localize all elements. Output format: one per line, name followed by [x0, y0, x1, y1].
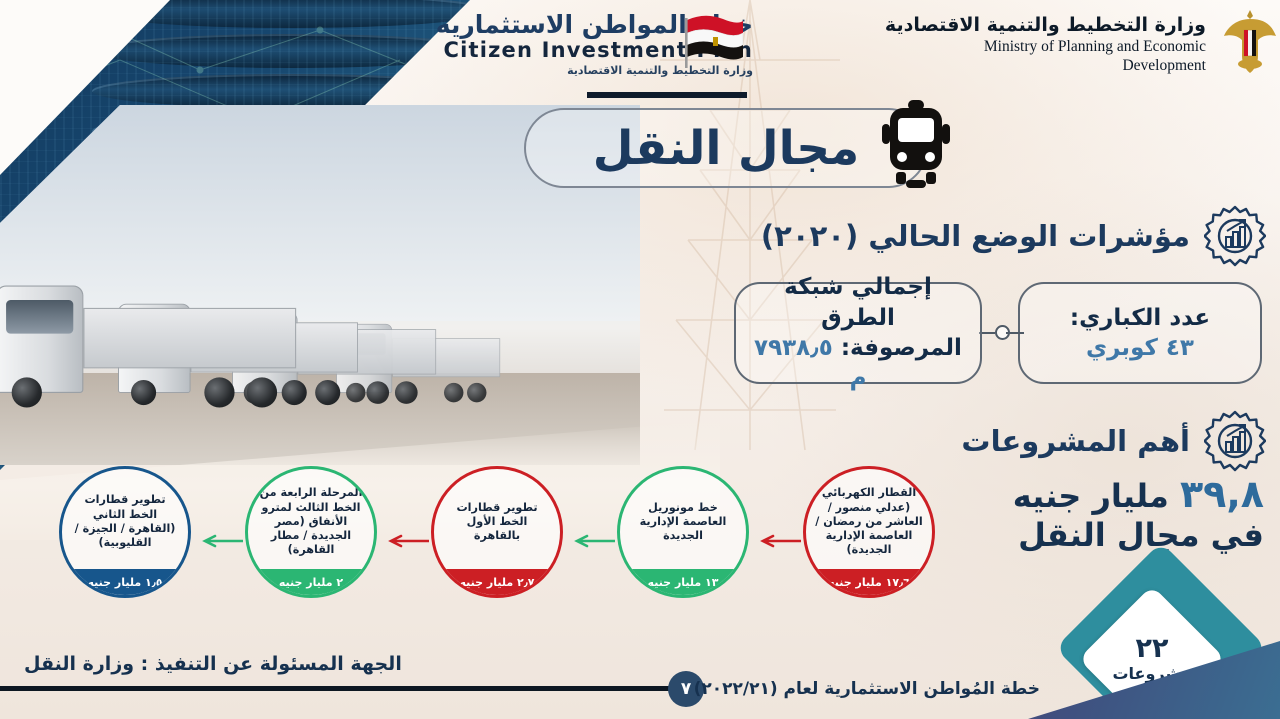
- ministry-logo: وزارة التخطيط والتنمية الاقتصادية Minist…: [950, 14, 1268, 94]
- project-circle-metro-line-three-phase-four[interactable]: المرحلة الرابعة من الخط الثالث لمترو الأ…: [245, 466, 377, 598]
- egypt-flag-icon: [683, 12, 745, 70]
- badge-count: ٢٢: [1136, 635, 1169, 662]
- indicator-card-bridges: عدد الكباري: ٤٣ كوبري: [1018, 282, 1262, 384]
- indicator-roads-label: إجمالي شبكة الطرق: [752, 272, 964, 333]
- eagle-of-saladin-icon: [1222, 6, 1278, 76]
- project-cost: ١٫٥ مليار جنيه: [62, 569, 188, 595]
- budget-scope: في مجال النقل: [964, 517, 1264, 555]
- projects-flow: القطار الكهربائي (عدلي منصور / العاشر من…: [30, 466, 935, 612]
- project-title-wrap: خط مونوريل العاصمة الإدارية الجديدة: [620, 469, 746, 569]
- indicator-bridges-label: عدد الكباري:: [1070, 303, 1210, 333]
- project-title-wrap: تطوير قطارات الخط الثاني (القاهرة / الجي…: [62, 469, 188, 569]
- budget-amount-row: ٣٩,٨ مليار جنيه: [964, 472, 1264, 517]
- project-title: تطوير قطارات الخط الثاني (القاهرة / الجي…: [70, 493, 180, 550]
- indicator-roads-prefix: المرصوفة:: [841, 335, 962, 361]
- project-cost: ٢ مليار جنيه: [248, 569, 374, 595]
- budget-unit: مليار جنيه: [1013, 477, 1169, 515]
- project-cost: ١٧٫٦ مليار جنيه: [806, 569, 932, 595]
- flow-arrow-3: [383, 534, 429, 548]
- section-heading-projects-label: أهم المشروعات: [961, 424, 1190, 458]
- project-circle-electric-train[interactable]: القطار الكهربائي (عدلي منصور / العاشر من…: [803, 466, 935, 598]
- infographic-page: خطة المواطن الاستثمارية Citizen Investme…: [0, 0, 1280, 719]
- budget-amount: ٣٩,٨: [1180, 472, 1264, 516]
- project-circle-metro-line-two[interactable]: تطوير قطارات الخط الثاني (القاهرة / الجي…: [59, 466, 191, 598]
- project-title: المرحلة الرابعة من الخط الثالث لمترو الأ…: [256, 486, 366, 558]
- ministry-logo-english-line1: Ministry of Planning and Economic: [950, 38, 1268, 57]
- section-heading-current-status-label: مؤشرات الوضع الحالي (٢٠٢٠): [761, 219, 1190, 253]
- indicator-roads-value-row: المرصوفة: ٧٩٣٨٫٥ م: [752, 333, 964, 394]
- project-title: القطار الكهربائي (عدلي منصور / العاشر من…: [814, 486, 924, 558]
- cip-logo-rule: [587, 92, 747, 98]
- train-icon: [870, 100, 962, 192]
- project-cost: ١٣ مليار جنيه: [620, 569, 746, 595]
- project-title-wrap: تطوير قطارات الخط الأول بالقاهرة: [434, 469, 560, 569]
- footer-rule: [0, 686, 700, 691]
- indicator-bridges-value: ٤٣ كوبري: [1086, 333, 1194, 363]
- section-heading-current-status: مؤشرات الوضع الحالي (٢٠٢٠): [761, 205, 1266, 267]
- project-title: تطوير قطارات الخط الأول بالقاهرة: [442, 501, 552, 544]
- project-circle-metro-line-one[interactable]: تطوير قطارات الخط الأول بالقاهرة ٢٫٧ ملي…: [431, 466, 563, 598]
- project-title-wrap: القطار الكهربائي (عدلي منصور / العاشر من…: [806, 469, 932, 569]
- section-heading-projects: أهم المشروعات: [961, 410, 1266, 472]
- ministry-logo-arabic: وزارة التخطيط والتنمية الاقتصادية: [950, 14, 1268, 38]
- connector-line-right: [1006, 332, 1024, 334]
- project-title: خط مونوريل العاصمة الإدارية الجديدة: [628, 501, 738, 544]
- project-cost: ٢٫٧ مليار جنيه: [434, 569, 560, 595]
- plan-caption: خطة المُواطن الاستثمارية لعام (٢٠٢٢/٢١): [694, 679, 1040, 699]
- responsible-entity: الجهة المسئولة عن التنفيذ : وزارة النقل: [24, 653, 402, 675]
- project-title-wrap: المرحلة الرابعة من الخط الثالث لمترو الأ…: [248, 469, 374, 569]
- gear-chart-icon: [1204, 410, 1266, 472]
- indicator-card-paved-roads: إجمالي شبكة الطرق المرصوفة: ٧٩٣٨٫٥ م: [734, 282, 982, 384]
- gear-chart-icon: [1204, 205, 1266, 267]
- ministry-logo-english-line2: Development: [950, 57, 1268, 76]
- page-title: مجال النقل: [524, 108, 928, 188]
- page-title-text: مجال النقل: [593, 125, 860, 172]
- flow-arrow-1: [755, 534, 801, 548]
- transport-budget: ٣٩,٨ مليار جنيه في مجال النقل: [964, 472, 1264, 555]
- flow-arrow-2: [569, 534, 615, 548]
- flow-arrow-4: [197, 534, 243, 548]
- project-circle-new-capital-monorail[interactable]: خط مونوريل العاصمة الإدارية الجديدة ١٣ م…: [617, 466, 749, 598]
